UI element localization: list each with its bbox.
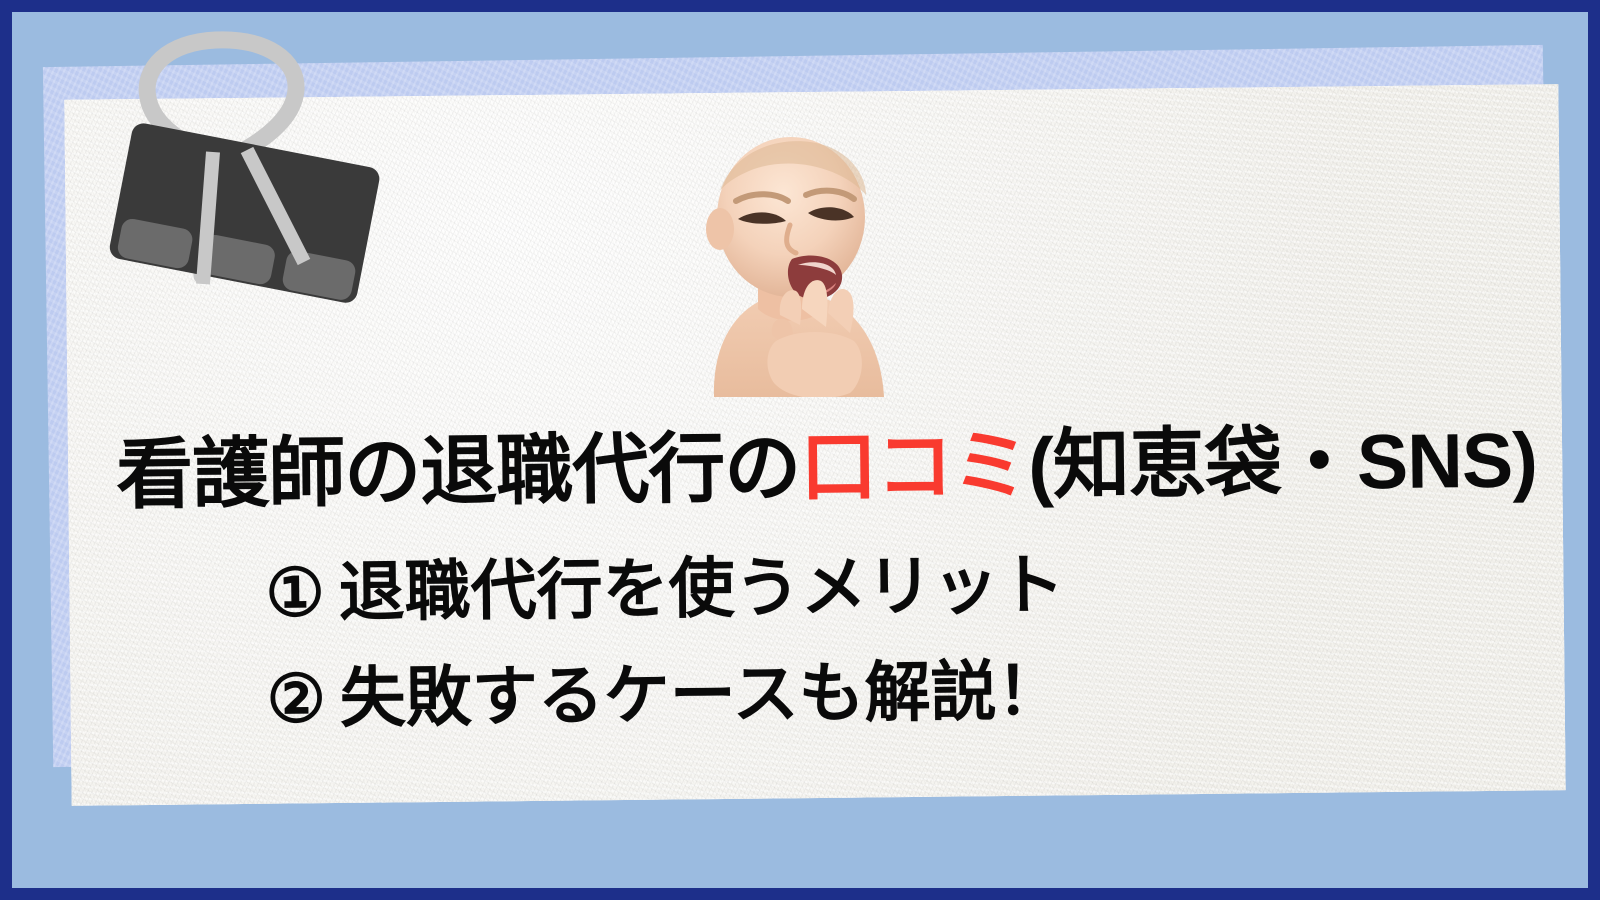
thumbnail-canvas: 看護師の退職代行の口コミ(知恵袋・SNS) ①退職代行を使うメリット ②失敗する… [0, 0, 1600, 900]
headline-highlight: 口コミ [800, 423, 1029, 511]
bullet-marker-2: ② [266, 661, 326, 736]
bullet-item-2: ②失敗するケースも解説！ [266, 657, 1063, 731]
crying-baby-photo [684, 129, 899, 397]
bullet-text-1: 退職代行を使うメリット [338, 547, 1065, 629]
headline-part2: (知恵袋・SNS) [1028, 417, 1537, 508]
bullet-marker-1: ① [265, 555, 325, 630]
bullet-text-2: 失敗するケースも解説！ [339, 653, 1062, 735]
binder-clip-icon [108, 26, 380, 296]
page-title: 看護師の退職代行の口コミ(知恵袋・SNS) [116, 423, 1517, 515]
bullet-item-1: ①退職代行を使うメリット [265, 551, 1065, 625]
headline-part1: 看護師の退職代行の [116, 425, 801, 518]
